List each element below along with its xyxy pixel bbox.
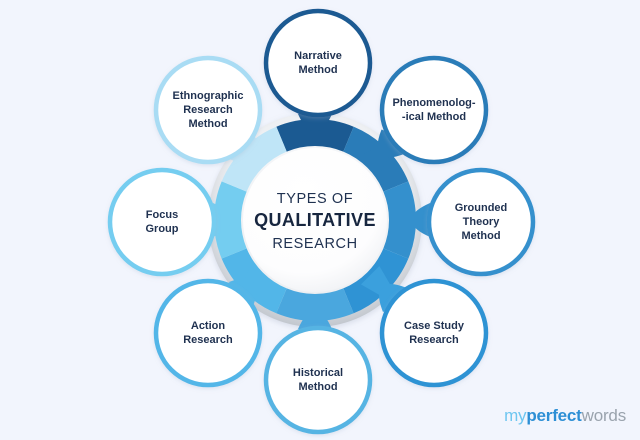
node-label-line: Method xyxy=(188,118,227,130)
logo-part-my: my xyxy=(504,406,526,425)
node-label-line: Method xyxy=(298,381,337,393)
node-label-line: Method xyxy=(461,230,500,242)
node-label-line: Group xyxy=(146,223,179,235)
brand-logo: myperfectwords xyxy=(504,406,626,426)
center-line-1: TYPES OF xyxy=(277,191,354,207)
logo-part-words: words xyxy=(582,406,626,425)
node-ethnographic-research-method[interactable]: EthnographicResearchMethod xyxy=(156,58,260,162)
node-label-line: Grounded xyxy=(455,202,508,214)
center-line-3: RESEARCH xyxy=(272,236,357,252)
node-label-line: Focus xyxy=(146,209,178,221)
node-label-line: Action xyxy=(191,320,226,332)
node-phenomenological-method[interactable]: Phenomenolog--ical Method xyxy=(382,58,486,162)
center-line-2: QUALITATIVE xyxy=(254,210,376,230)
node-action-research[interactable]: ActionResearch xyxy=(156,281,260,385)
node-historical-method[interactable]: HistoricalMethod xyxy=(266,328,370,432)
node-label-line: Research xyxy=(183,334,233,346)
node-label-line: Narrative xyxy=(294,50,342,62)
node-label-line: Historical xyxy=(293,367,343,379)
node-label-line: Ethnographic xyxy=(173,90,244,102)
logo-part-perfect: perfect xyxy=(526,406,581,425)
node-label-line: Research xyxy=(183,104,233,116)
node-grounded-theory-method[interactable]: GroundedTheoryMethod xyxy=(429,170,533,274)
node-label-line: -ical Method xyxy=(402,111,466,123)
node-label-line: Phenomenolog- xyxy=(392,97,475,109)
node-label-line: Method xyxy=(298,64,337,76)
node-narrative-method[interactable]: NarrativeMethod xyxy=(266,11,370,115)
node-case-study-research[interactable]: Case StudyResearch xyxy=(382,281,486,385)
node-focus-group[interactable]: FocusGroup xyxy=(110,170,214,274)
node-label-line: Research xyxy=(409,334,459,346)
qualitative-research-diagram: TYPES OF QUALITATIVE RESEARCH NarrativeM… xyxy=(0,0,640,440)
node-label-line: Theory xyxy=(463,216,501,228)
node-label-line: Case Study xyxy=(404,320,465,332)
infographic-canvas: TYPES OF QUALITATIVE RESEARCH NarrativeM… xyxy=(0,0,640,440)
